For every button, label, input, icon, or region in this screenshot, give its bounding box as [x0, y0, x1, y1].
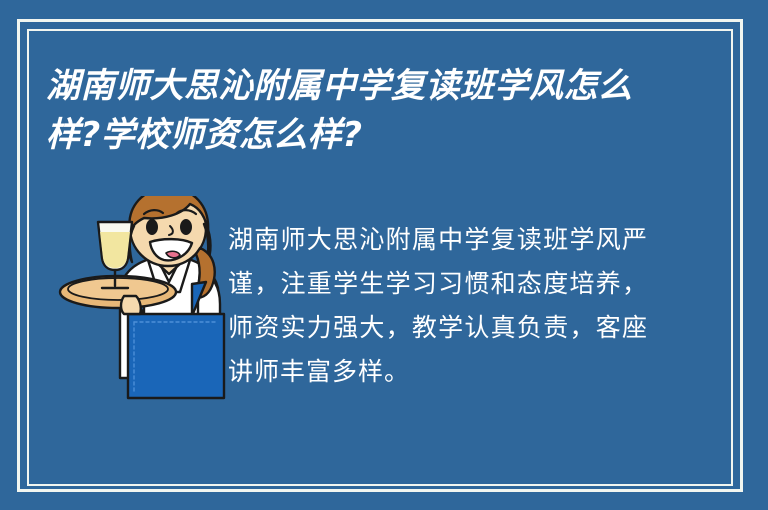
tongue [166, 251, 180, 258]
apron-body [128, 314, 224, 398]
page-title: 湖南师大思沁附属中学复读班学风怎么样?学校师资怎么样? [46, 62, 666, 160]
eye-right [180, 219, 192, 235]
poster-canvas: 湖南师大思沁附属中学复读班学风怎么样?学校师资怎么样? [0, 0, 768, 510]
left-hand [121, 296, 141, 314]
body-paragraph: 湖南师大思沁附属中学复读班学风严谨，注重学生学习习惯和态度培养，师资实力强大，教… [228, 218, 648, 394]
waitress-illustration [58, 196, 234, 414]
eye-left [146, 219, 158, 235]
